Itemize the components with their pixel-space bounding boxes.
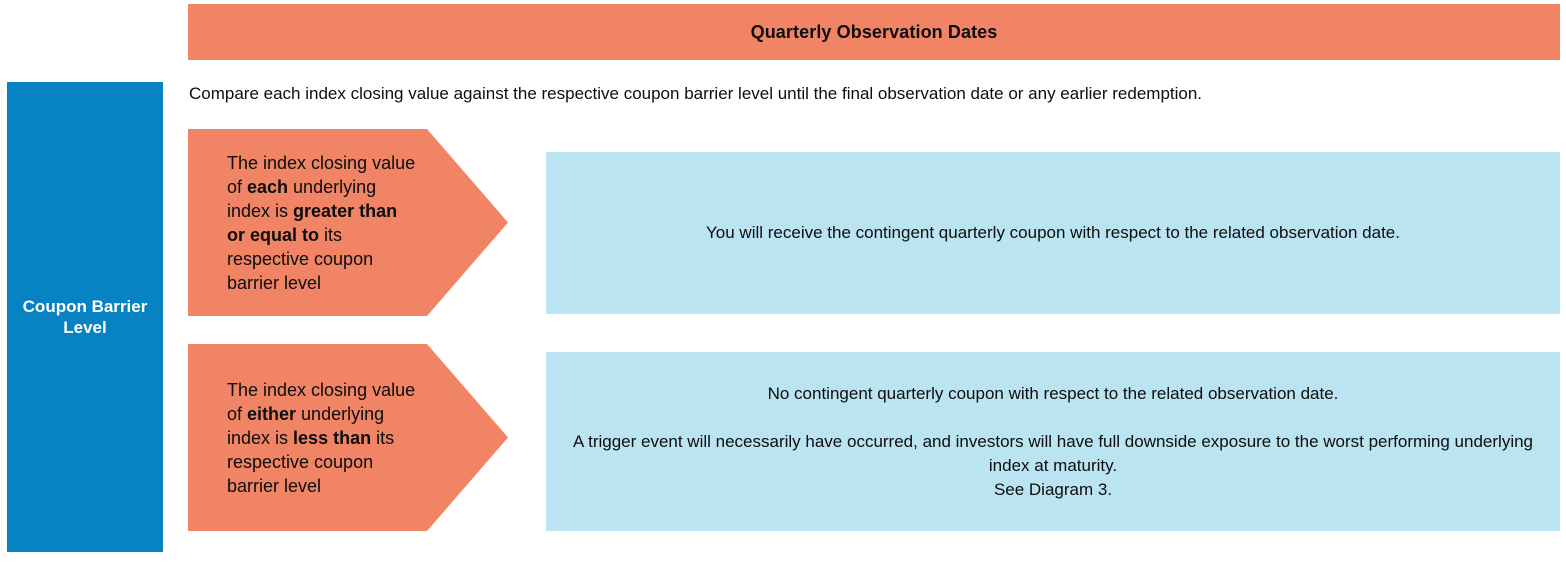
condition-arrow-less-than: The index closing value of either underl… <box>188 344 508 531</box>
emphasis-text: each <box>247 177 288 197</box>
quarterly-observation-dates-header: Quarterly Observation Dates <box>188 4 1560 60</box>
coupon-barrier-level-label: Coupon Barrier Level <box>13 296 157 338</box>
outcome-2-body: No contingent quarterly coupon with resp… <box>572 382 1534 502</box>
header-title: Quarterly Observation Dates <box>751 22 998 43</box>
outcome-box-coupon-paid: You will receive the contingent quarterl… <box>546 152 1560 314</box>
diagram-canvas: Coupon Barrier Level Quarterly Observati… <box>0 0 1566 563</box>
outcome-box-no-coupon: No contingent quarterly coupon with resp… <box>546 352 1560 531</box>
outcome-paragraph: A trigger event will necessarily have oc… <box>572 430 1534 478</box>
outcome-paragraph: See Diagram 3. <box>572 478 1534 502</box>
condition-arrow-2-text: The index closing value of either underl… <box>188 378 508 498</box>
emphasis-text: less than <box>293 428 371 448</box>
intro-instruction-text: Compare each index closing value against… <box>189 83 1560 105</box>
condition-arrow-1-text: The index closing value of each underlyi… <box>188 151 508 295</box>
condition-arrow-greater-or-equal: The index closing value of each underlyi… <box>188 129 508 316</box>
outcome-1-body: You will receive the contingent quarterl… <box>572 221 1534 245</box>
emphasis-text: either <box>247 404 296 424</box>
outcome-paragraph: No contingent quarterly coupon with resp… <box>572 382 1534 406</box>
outcome-paragraph: You will receive the contingent quarterl… <box>572 221 1534 245</box>
coupon-barrier-level-panel: Coupon Barrier Level <box>7 82 163 552</box>
